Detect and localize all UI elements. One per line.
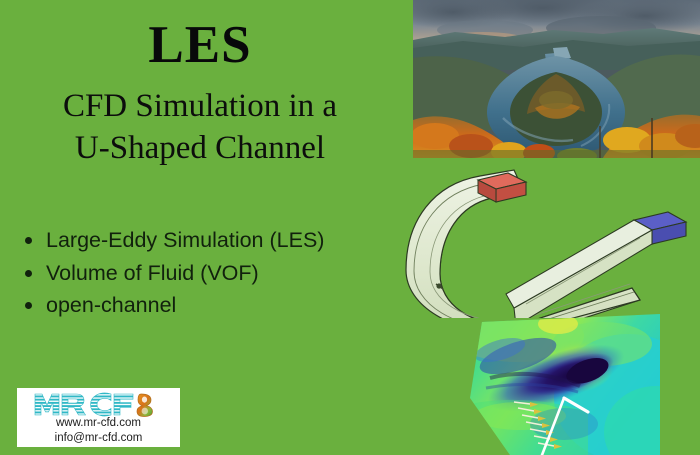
list-item: open-channel: [18, 289, 418, 322]
page-title: LES: [0, 18, 400, 73]
feature-list: Large-Eddy Simulation (LES) Volume of Fl…: [18, 224, 418, 322]
list-item: Large-Eddy Simulation (LES): [18, 224, 418, 257]
subtitle-line-2: U-Shaped Channel: [0, 127, 400, 169]
logo-wordmark: [17, 391, 180, 417]
logo-swirl-glyph: [137, 394, 153, 417]
title-block: LES CFD Simulation in a U-Shaped Channel: [0, 18, 400, 170]
page-subtitle: CFD Simulation in a U-Shaped Channel: [0, 85, 400, 169]
cfd-contour-plot: [460, 312, 660, 455]
logo-box[interactable]: www.mr-cfd.com info@mr-cfd.com: [17, 388, 180, 447]
logo-contact: www.mr-cfd.com info@mr-cfd.com: [17, 416, 180, 446]
poster-canvas: LES CFD Simulation in a U-Shaped Channel…: [0, 0, 700, 455]
logo-website[interactable]: www.mr-cfd.com: [17, 416, 180, 431]
mr-cfd-logo-icon: [33, 391, 165, 417]
logo-email[interactable]: info@mr-cfd.com: [17, 431, 180, 446]
river-bend-photo: [413, 0, 700, 158]
subtitle-line-1: CFD Simulation in a: [0, 85, 400, 127]
list-item: Volume of Fluid (VOF): [18, 257, 418, 290]
u-channel-geometry: [396, 158, 700, 318]
